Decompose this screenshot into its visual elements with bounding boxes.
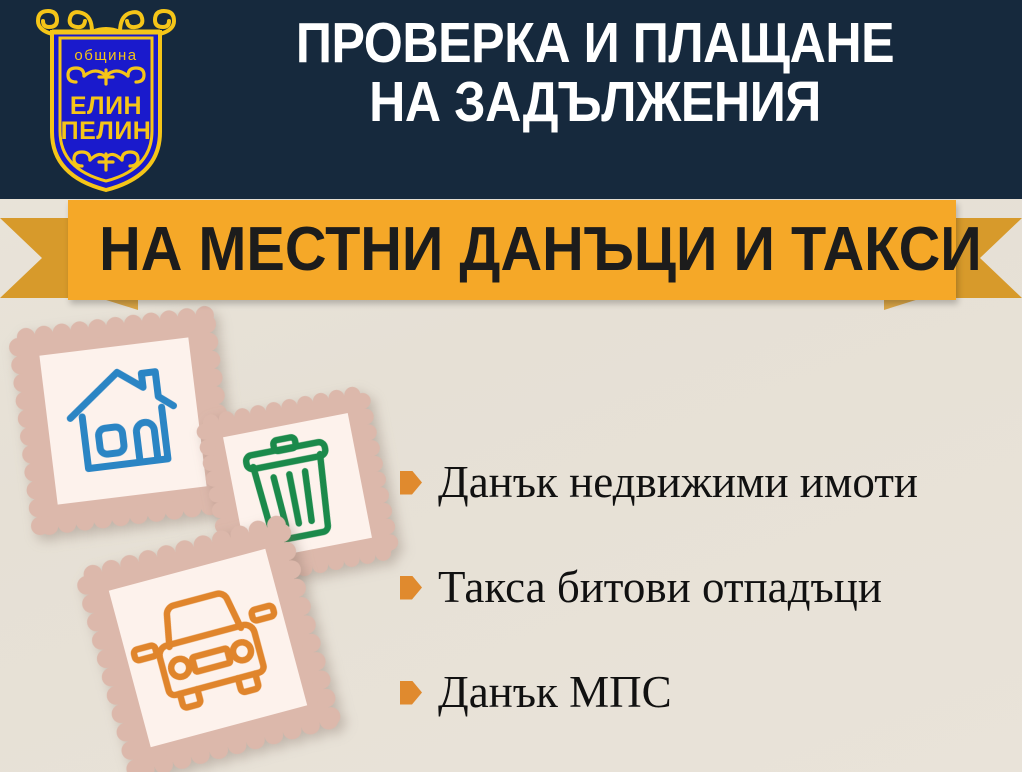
ribbon-banner: НА МЕСТНИ ДАНЪЦИ И ТАКСИ [0,196,1022,314]
ribbon-label: НА МЕСТНИ ДАНЪЦИ И ТАКСИ [99,200,925,300]
logo-title-line2: ПЕЛИН [61,117,152,145]
arrow-bullet-icon [400,681,422,705]
list-item[interactable]: Такса битови отпадъци [400,535,1010,640]
list-item[interactable]: Данък недвижими имоти [400,430,1010,535]
poster-canvas: Данък недвижими имоти Такса битови отпад… [0,0,1022,772]
logo-title-line1: ЕЛИН [70,92,142,120]
logo-subtitle: община [74,47,137,64]
municipality-logo[interactable]: община ЕЛИН ПЕЛИН [30,4,182,194]
ribbon-body: НА МЕСТНИ ДАНЪЦИ И ТАКСИ [68,200,956,300]
list-item-label: Данък МПС [438,670,672,715]
coat-of-arms-svg: община ЕЛИН ПЕЛИН [30,4,182,194]
list-item[interactable]: Данък МПС [400,640,1010,745]
tax-types-list: Данък недвижими имоти Такса битови отпад… [400,430,1010,745]
list-item-label: Данък недвижими имоти [438,460,918,505]
arrow-bullet-icon [400,576,422,600]
list-item-label: Такса битови отпадъци [438,565,882,610]
arrow-bullet-icon [400,471,422,495]
page-title: ПРОВЕРКА И ПЛАЩАНЕ НА ЗАДЪЛЖЕНИЯ [234,14,956,131]
